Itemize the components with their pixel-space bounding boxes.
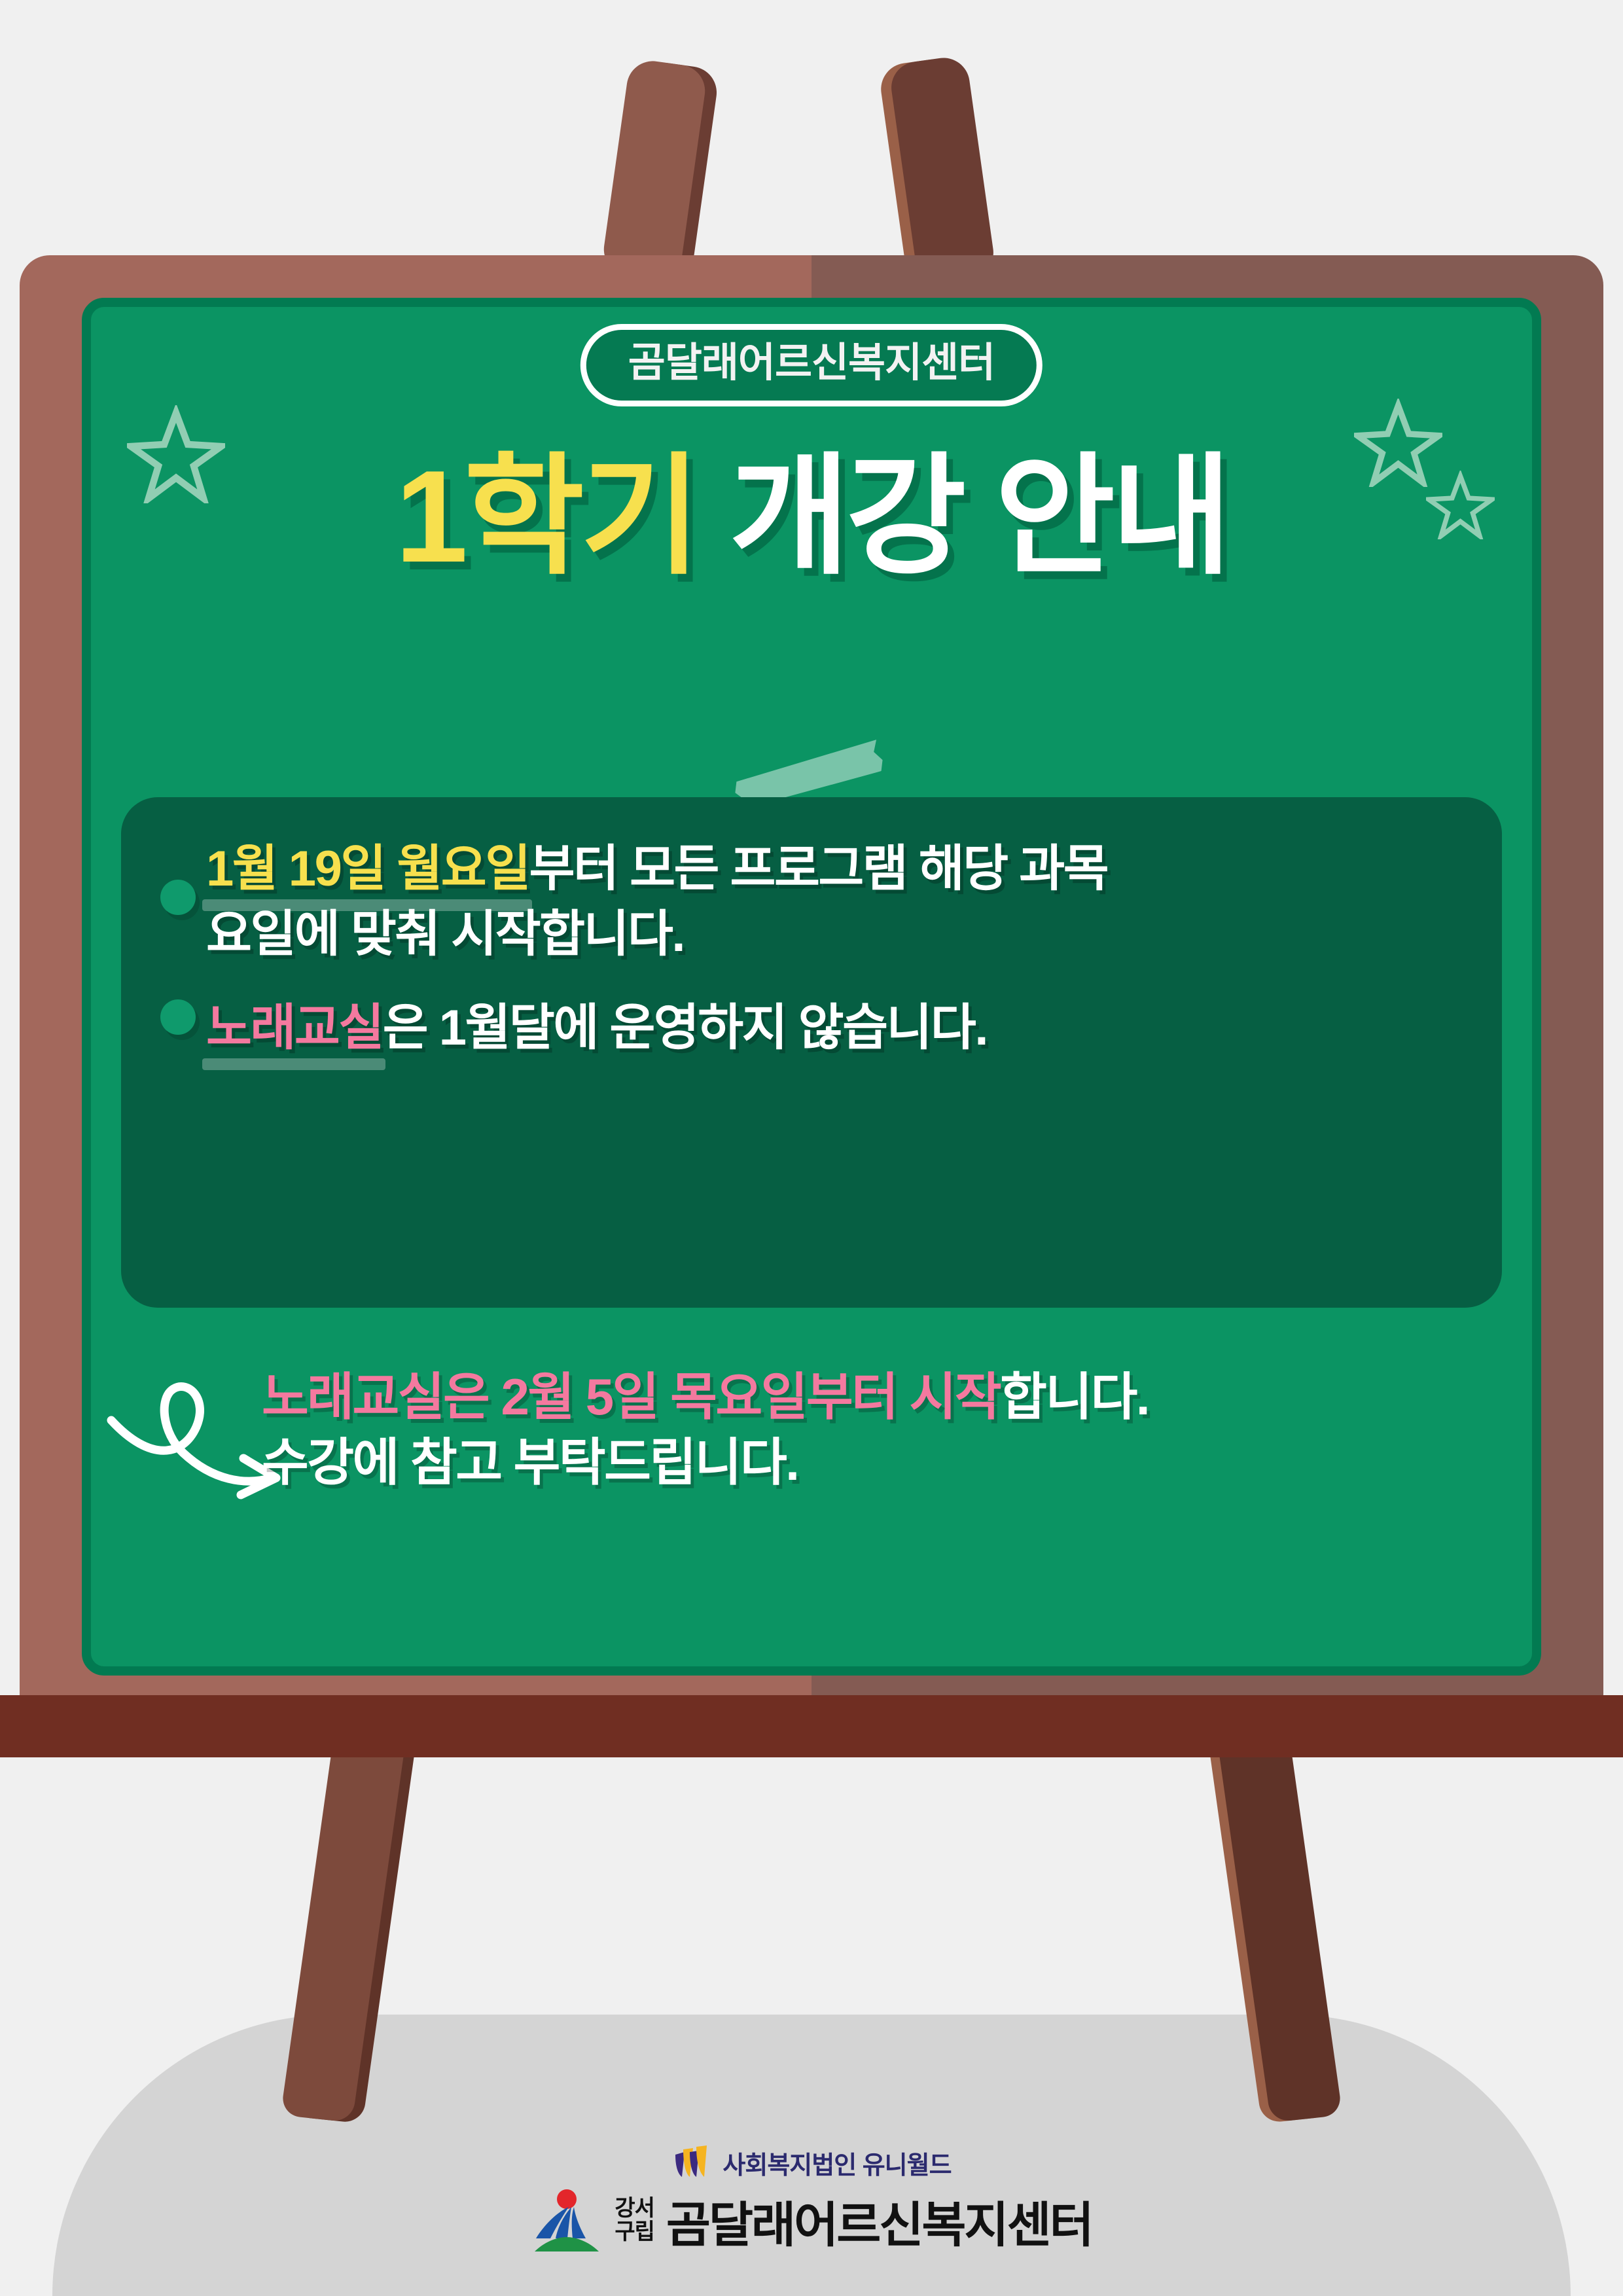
bullet-2-highlight: 노래교실 bbox=[206, 996, 383, 1061]
easel-tray bbox=[0, 1695, 1623, 1757]
page-title: 1학기 개강 안내 bbox=[0, 452, 1623, 583]
list-item: 노래교실은 1월달에 운영하지 않습니다. bbox=[121, 968, 1502, 1061]
easel-leg-top-left bbox=[601, 58, 709, 282]
bullet-1-highlight: 1월 19일 월요일 bbox=[206, 836, 529, 902]
center-name-label: 곰달래어르신복지센터 bbox=[666, 2186, 1092, 2256]
district-line-2: 구립 bbox=[615, 2221, 654, 2244]
bullet-dot-icon bbox=[160, 999, 196, 1035]
title-highlight: 1학기 bbox=[395, 444, 697, 590]
bullet-1-line-1: 1월 19일 월요일부터 모든 프로그램 해당 과목 bbox=[206, 836, 1502, 902]
bullet-2-line-1: 노래교실은 1월달에 운영하지 않습니다. bbox=[206, 996, 1502, 1061]
bullet-2-rest: 은 1월달에 운영하지 않습니다. bbox=[383, 1000, 987, 1056]
badge-label: 곰달래어르신복지센터 bbox=[628, 340, 995, 386]
list-item: 1월 19일 월요일부터 모든 프로그램 해당 과목 요일에 맞춰 시작합니다. bbox=[121, 797, 1502, 968]
bullet-1-rest: 부터 모든 프로그램 해당 과목 bbox=[529, 841, 1108, 897]
gangseo-gu-logo-icon bbox=[531, 2185, 603, 2257]
note-line-2: 수강에 참고 부탁드립니다. bbox=[262, 1430, 1505, 1496]
corporation-row: 사회복지법인 유니월드 bbox=[671, 2144, 951, 2181]
uniworld-logo-icon bbox=[671, 2144, 713, 2181]
bottom-note: 노래교실은 2월 5일 목요일부터 시작합니다. 수강에 참고 부탁드립니다. bbox=[262, 1365, 1505, 1496]
note-highlight: 노래교실은 2월 5일 목요일부터 시작 bbox=[262, 1368, 1000, 1426]
bullet-1-line-2: 요일에 맞춰 시작합니다. bbox=[206, 902, 1502, 967]
bullet-list: 1월 19일 월요일부터 모든 프로그램 해당 과목 요일에 맞춰 시작합니다.… bbox=[121, 797, 1502, 1061]
district-line-1: 강서 bbox=[615, 2197, 654, 2221]
note-line-1: 노래교실은 2월 5일 목요일부터 시작합니다. bbox=[262, 1365, 1505, 1430]
footer: 사회복지법인 유니월드 강서 구립 곰달래어르신복지센터 bbox=[0, 2144, 1623, 2257]
bullet-dot-icon bbox=[160, 880, 196, 915]
center-row: 강서 구립 곰달래어르신복지센터 bbox=[531, 2185, 1092, 2257]
district-label: 강서 구립 bbox=[615, 2197, 654, 2244]
corporation-label: 사회복지법인 유니월드 bbox=[722, 2145, 951, 2181]
note-rest: 합니다. bbox=[1000, 1368, 1149, 1426]
organization-badge: 곰달래어르신복지센터 bbox=[580, 324, 1043, 406]
title-rest: 개강 안내 bbox=[730, 444, 1228, 590]
easel-leg-top-right bbox=[888, 54, 997, 285]
notice-panel: 1월 19일 월요일부터 모든 프로그램 해당 과목 요일에 맞춰 시작합니다.… bbox=[121, 797, 1502, 1308]
